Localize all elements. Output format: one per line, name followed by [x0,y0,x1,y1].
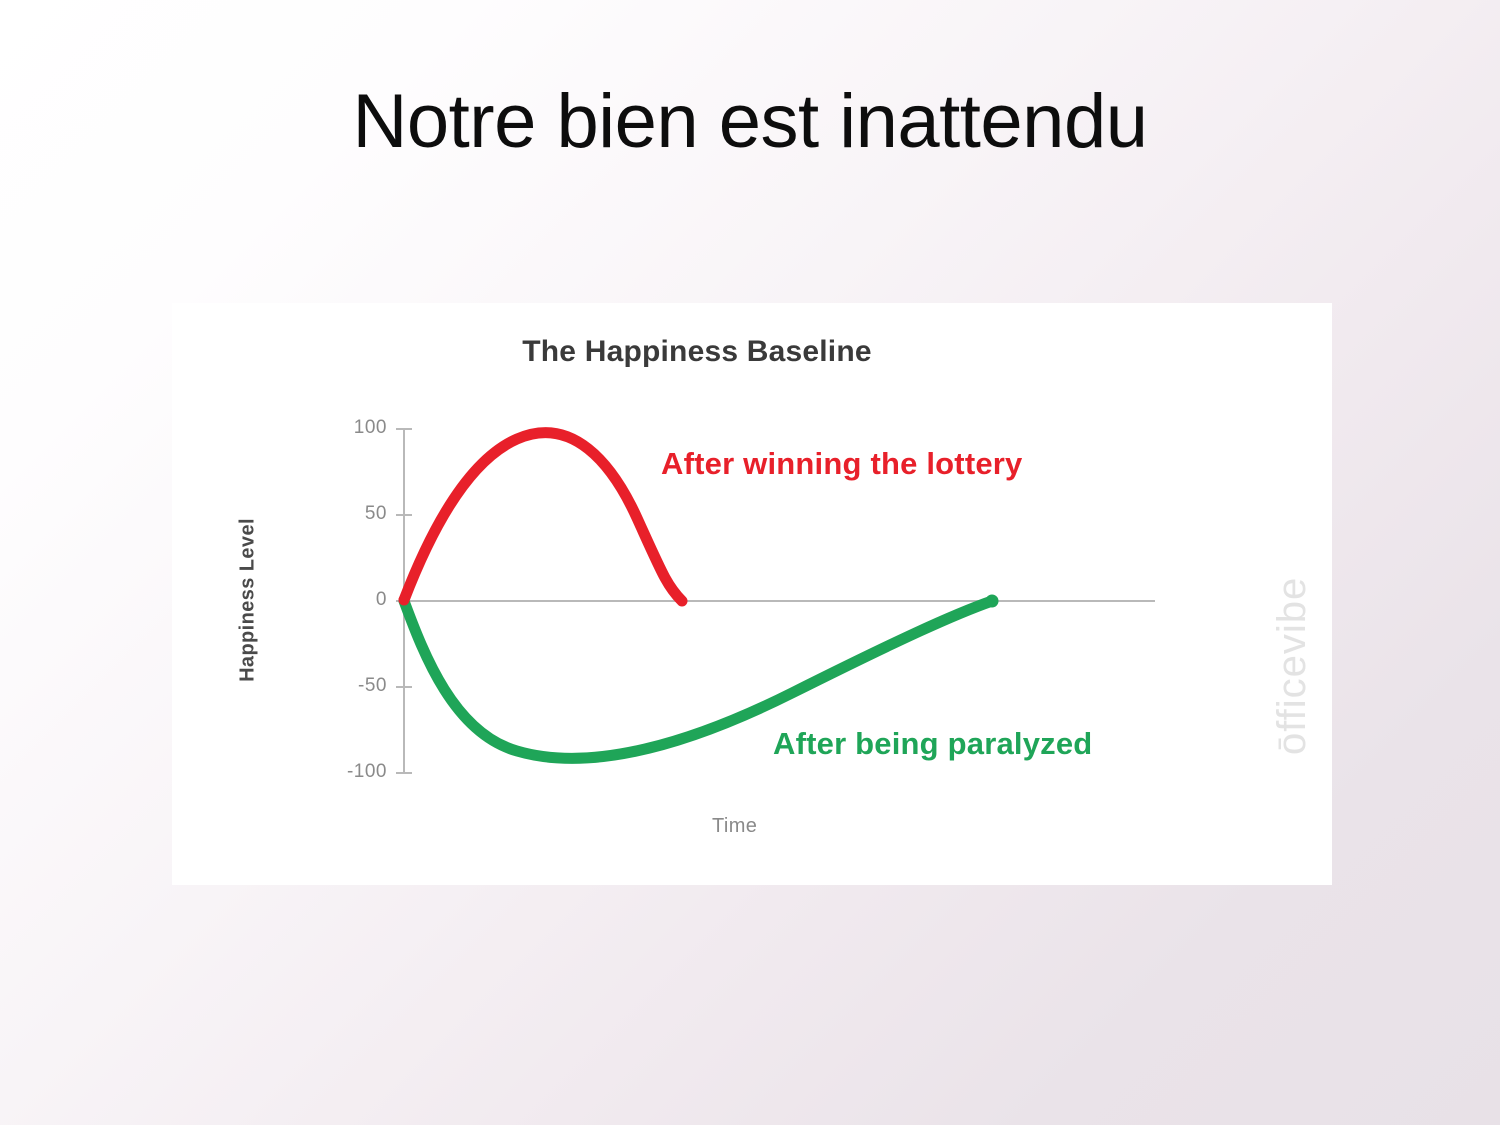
chart-curves [172,303,1332,885]
curve-paralyzed-endpoint [986,595,999,608]
annotation-lottery: After winning the lottery [661,446,1023,482]
chart-image-card[interactable]: The Happiness Baseline 100 50 0 -50 -100… [172,303,1332,885]
page-title: Notre bien est inattendu [0,82,1500,162]
annotation-paralyzed: After being paralyzed [773,726,1092,762]
officevibe-watermark: ōfficevibe [1270,577,1315,755]
chart-plot-area: 100 50 0 -50 -100 Happiness Level Time A… [172,303,1332,885]
slide-canvas: Notre bien est inattendu The Happiness B… [0,0,1500,1125]
curve-origin-marker [399,595,410,606]
curve-lottery [404,433,682,601]
